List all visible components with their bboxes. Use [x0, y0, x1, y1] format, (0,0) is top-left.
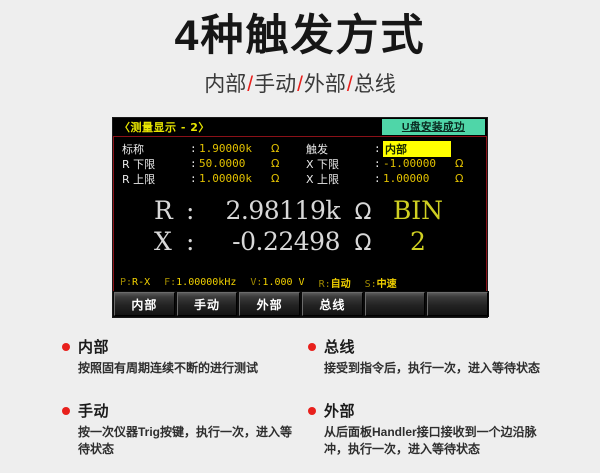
subtitle-separator: /	[296, 73, 304, 96]
usb-status-badge: U盘安装成功	[382, 119, 485, 135]
note-external: 外部 从后面板Handler接口接收到一个边沿脉冲，执行一次，进入等待状态	[308, 400, 558, 459]
param-label: R 下限	[122, 156, 190, 172]
softkey-external[interactable]: 外部	[239, 292, 300, 316]
note-title: 总线	[324, 336, 355, 357]
bullet-icon	[308, 343, 316, 351]
note-description: 接受到指令后，执行一次，进入等待状态	[308, 360, 546, 377]
note-header: 外部	[308, 400, 558, 421]
status-label: R:	[319, 279, 331, 290]
note-description: 从后面板Handler接口接收到一个边沿脉冲，执行一次，进入等待状态	[308, 424, 546, 459]
measurement-readout: R : 2.98119k Ω BIN X : -0.22498 Ω 2	[114, 186, 486, 258]
param-row-r-upper[interactable]: R 上限 : 1.00000k Ω	[122, 171, 300, 186]
param-unit: Ω	[271, 142, 279, 155]
status-item-frequency: F:1.00000kHz	[164, 277, 236, 288]
status-item-parameter: P:R-X	[120, 277, 150, 288]
note-internal: 内部 按照固有周期连续不断的进行测试	[62, 336, 312, 377]
page-subtitle: 内部/手动/外部/总线	[0, 59, 600, 98]
status-value: R-X	[132, 277, 150, 288]
note-header: 手动	[62, 400, 312, 421]
bullet-icon	[62, 407, 70, 415]
subtitle-separator: /	[246, 73, 254, 96]
note-title: 外部	[324, 400, 355, 421]
readout-bin-label: BIN	[386, 196, 450, 225]
param-colon: :	[374, 157, 383, 170]
status-item-speed: S:中速	[365, 275, 397, 290]
status-item-voltage: V:1.000 V	[250, 277, 304, 288]
param-value: 50.0000	[199, 157, 271, 170]
readout-value: 2.98119k	[204, 196, 340, 225]
status-label: V:	[250, 277, 262, 288]
softkey-bus[interactable]: 总线	[302, 292, 363, 316]
softkey-manual[interactable]: 手动	[177, 292, 238, 316]
param-colon: :	[374, 142, 383, 155]
status-label: S:	[365, 279, 377, 290]
notes-section: 内部 按照固有周期连续不断的进行测试 总线 接受到指令后，执行一次，进入等待状态…	[0, 332, 600, 473]
bullet-icon	[308, 407, 316, 415]
page-title: 4种触发方式	[0, 0, 600, 59]
readout-row-x: X : -0.22498 Ω 2	[114, 227, 486, 258]
subtitle-part-0: 内部	[204, 73, 246, 96]
note-description: 按一次仪器Trig按键，执行一次，进入等待状态	[62, 424, 300, 459]
readout-unit: Ω	[340, 200, 386, 225]
screen-header: 〈测量显示 - 2〉 U盘安装成功	[113, 118, 487, 136]
subtitle-separator: /	[346, 73, 354, 96]
subtitle-part-3: 总线	[354, 73, 396, 96]
param-unit: Ω	[271, 172, 279, 185]
subtitle-part-1: 手动	[254, 73, 296, 96]
note-header: 内部	[62, 336, 312, 357]
readout-value: -0.22498	[204, 227, 340, 256]
trigger-mode-value[interactable]: 内部	[383, 141, 451, 157]
note-title: 手动	[78, 400, 109, 421]
status-label: P:	[120, 277, 132, 288]
bullet-icon	[62, 343, 70, 351]
softkey-empty-2[interactable]	[427, 292, 488, 316]
readout-symbol: X	[154, 227, 186, 256]
note-title: 内部	[78, 336, 109, 357]
param-label: 触发	[306, 141, 374, 157]
param-row-x-upper[interactable]: X 上限 : 1.00000 Ω	[306, 171, 486, 186]
status-bar: P:R-X F:1.00000kHz V:1.000 V R:自动 S:中速	[114, 274, 486, 291]
param-row-x-lower[interactable]: X 下限 : -1.00000 Ω	[306, 156, 486, 171]
parameter-grid: 标称 : 1.90000k Ω R 下限 : 50.0000 Ω R 上限 : …	[114, 137, 486, 186]
readout-colon: :	[186, 196, 204, 225]
status-value: 1.00000kHz	[176, 277, 236, 288]
param-label: R 上限	[122, 171, 190, 187]
param-colon: :	[374, 172, 383, 185]
param-value: 1.00000k	[199, 172, 271, 185]
parameter-column-left: 标称 : 1.90000k Ω R 下限 : 50.0000 Ω R 上限 : …	[114, 141, 300, 186]
param-row-trigger[interactable]: 触发 : 内部	[306, 141, 486, 156]
softkey-empty-1[interactable]	[365, 292, 426, 316]
param-row-r-lower[interactable]: R 下限 : 50.0000 Ω	[122, 156, 300, 171]
screen-title: 〈测量显示 - 2〉	[119, 119, 210, 135]
param-value: 1.90000k	[199, 142, 271, 155]
param-unit: Ω	[455, 157, 463, 170]
instrument-screen: 〈测量显示 - 2〉 U盘安装成功 标称 : 1.90000k Ω R 下限 :…	[112, 117, 488, 318]
screen-body: 标称 : 1.90000k Ω R 下限 : 50.0000 Ω R 上限 : …	[113, 136, 487, 292]
note-manual: 手动 按一次仪器Trig按键，执行一次，进入等待状态	[62, 400, 312, 459]
status-label: F:	[164, 277, 176, 288]
param-colon: :	[190, 172, 199, 185]
status-value: 1.000 V	[262, 277, 304, 288]
status-value: 自动	[331, 279, 351, 290]
param-value: 1.00000	[383, 172, 455, 185]
param-row-nominal[interactable]: 标称 : 1.90000k Ω	[122, 141, 300, 156]
param-colon: :	[190, 157, 199, 170]
param-label: 标称	[122, 141, 190, 157]
note-description: 按照固有周期连续不断的进行测试	[62, 360, 300, 377]
softkey-internal[interactable]: 内部	[114, 292, 175, 316]
param-unit: Ω	[271, 157, 279, 170]
parameter-column-right: 触发 : 内部 X 下限 : -1.00000 Ω X 上限 : 1.00000…	[300, 141, 486, 186]
readout-symbol: R	[154, 196, 186, 225]
softkey-bar: 内部 手动 外部 总线	[113, 291, 489, 317]
param-label: X 下限	[306, 156, 374, 172]
param-colon: :	[190, 142, 199, 155]
readout-colon: :	[186, 227, 204, 256]
note-header: 总线	[308, 336, 558, 357]
param-label: X 上限	[306, 171, 374, 187]
note-bus: 总线 接受到指令后，执行一次，进入等待状态	[308, 336, 558, 377]
readout-unit: Ω	[340, 231, 386, 256]
subtitle-part-2: 外部	[304, 73, 346, 96]
readout-bin-number: 2	[386, 227, 450, 256]
param-unit: Ω	[455, 172, 463, 185]
status-value: 中速	[377, 279, 397, 290]
status-item-range: R:自动	[319, 275, 351, 290]
readout-row-r: R : 2.98119k Ω BIN	[114, 196, 486, 227]
param-value: -1.00000	[383, 157, 455, 170]
